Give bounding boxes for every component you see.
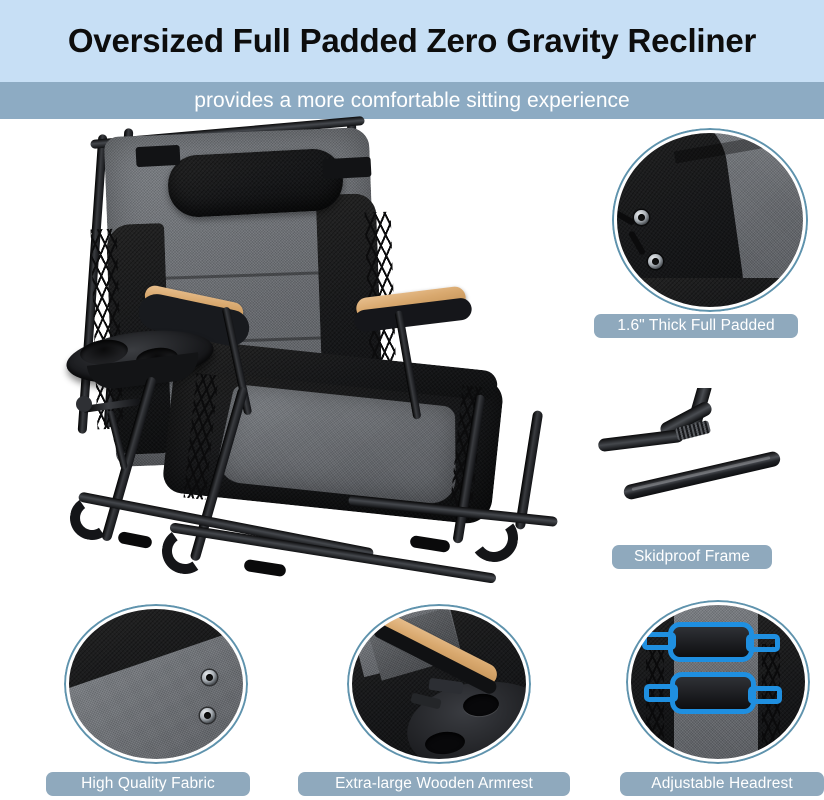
detail-circle-wooden-armrest: [347, 604, 531, 764]
detail-circle-thick-padded: [612, 128, 808, 312]
detail-skidproof-frame: [596, 388, 824, 536]
title-banner: Oversized Full Padded Zero Gravity Recli…: [0, 0, 824, 82]
feature-label-high-quality-fabric: High Quality Fabric: [46, 772, 250, 796]
subtitle-banner: provides a more comfortable sitting expe…: [0, 82, 824, 119]
hero-product-image: [18, 124, 598, 594]
headrest-highlight-upper: [668, 622, 754, 662]
grommet-icon: [634, 210, 649, 225]
grommet-icon: [202, 670, 217, 685]
page-title: Oversized Full Padded Zero Gravity Recli…: [68, 22, 756, 60]
page-subtitle: provides a more comfortable sitting expe…: [194, 89, 629, 113]
headrest-highlight-lower: [670, 672, 756, 714]
detail-circle-adjustable-headrest: [626, 600, 810, 764]
detail-circle-high-quality-fabric: [64, 604, 248, 764]
feature-label-adjustable-headrest: Adjustable Headrest: [620, 772, 824, 796]
feature-label-thick-padded: 1.6" Thick Full Padded: [594, 314, 798, 338]
grommet-icon: [200, 708, 215, 723]
headrest-pillow: [166, 147, 344, 218]
feature-label-wooden-armrest: Extra-large Wooden Armrest: [298, 772, 570, 796]
grommet-icon: [648, 254, 663, 269]
feature-label-skidproof-frame: Skidproof Frame: [612, 545, 772, 569]
